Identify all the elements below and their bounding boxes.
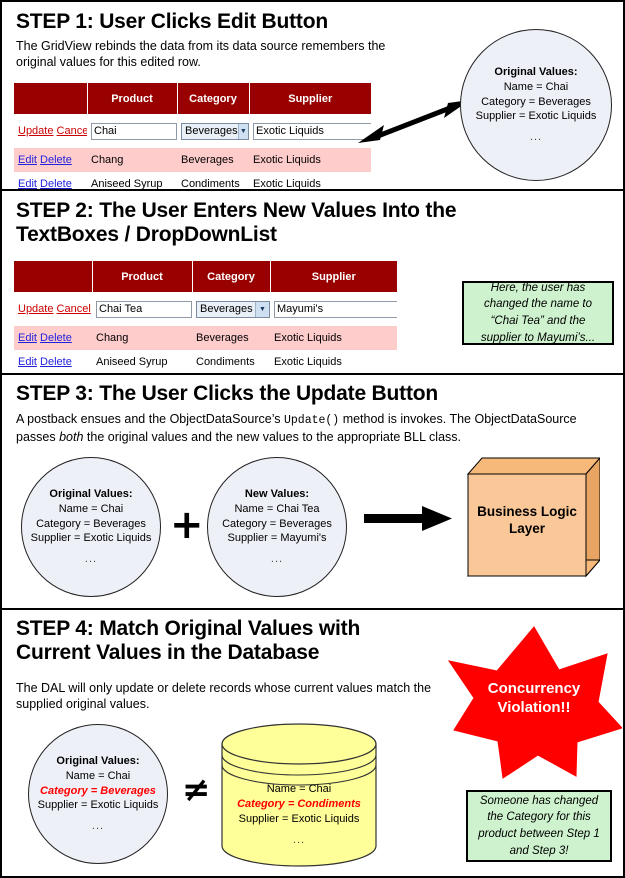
edit-row-commands: Update Cancel	[14, 292, 92, 326]
circle-line-category: Category = Beverages	[481, 96, 591, 108]
column-header-product: Product	[87, 83, 177, 114]
edit-link[interactable]: Edit	[18, 178, 37, 189]
db-line-supplier: Supplier = Exotic Liquids	[239, 813, 360, 825]
original-values-circle: Original Values: Name = Chai Category = …	[460, 29, 612, 181]
step-3-panel: STEP 3: The User Clicks the Update Butto…	[2, 373, 623, 608]
flow-arrow	[364, 505, 454, 533]
original-values-circle: Original Values: Name = Chai Category = …	[28, 724, 168, 864]
circle-line-supplier: Supplier = Mayumi's	[227, 532, 326, 544]
circle-line-category: Category = Beverages	[36, 518, 146, 530]
product-editor-cell: Chai Tea	[92, 292, 192, 326]
circle-line-name: Name = Chai	[66, 770, 131, 782]
category-editor-cell: Beverages ▼	[192, 292, 270, 326]
category-editor-cell: Beverages ▼	[177, 114, 249, 148]
chevron-down-icon: ▼	[238, 124, 248, 139]
circle-line-supplier: Supplier = Exotic Liquids	[31, 532, 152, 544]
edit-link[interactable]: Edit	[18, 356, 37, 368]
circle-line-category: Category = Beverages	[222, 518, 332, 530]
step-1-title: STEP 1: User Clicks Edit Button	[16, 10, 436, 34]
column-header-commands	[14, 83, 87, 114]
cell-product: Aniseed Syrup	[92, 350, 192, 373]
diagram-page: STEP 1: User Clicks Edit Button The Grid…	[0, 0, 625, 878]
cell-product: Aniseed Syrup	[87, 172, 177, 189]
cell-category: Beverages	[192, 326, 270, 350]
step-4-callout: Someone has changed the Category for thi…	[466, 790, 612, 862]
gridview-edit-row[interactable]: Update Cancel Chai Tea Beverages ▼	[14, 292, 397, 326]
circle-line-supplier: Supplier = Exotic Liquids	[476, 110, 597, 122]
circle-ellipsis: ...	[38, 819, 159, 834]
step-2-title: STEP 2: The User Enters New Values Into …	[16, 199, 486, 246]
row-commands: Edit Delete	[14, 172, 87, 189]
supplier-editor-cell: Exotic Liquids	[249, 114, 371, 148]
db-line-name: Name = Chai	[267, 783, 332, 795]
supplier-textbox[interactable]: Mayumi's	[274, 301, 397, 318]
table-row[interactable]: Edit Delete Chang Beverages Exotic Liqui…	[14, 326, 397, 350]
gridview-header-row: Product Category Supplier	[14, 261, 397, 292]
original-values-circle: Original Values: Name = Chai Category = …	[21, 457, 161, 597]
circle-heading: Original Values:	[56, 755, 139, 767]
step-4-title: STEP 4: Match Original Values with Curre…	[16, 617, 436, 664]
gridview-step-2[interactable]: Product Category Supplier Update Cancel …	[14, 261, 397, 373]
step-4-panel: STEP 4: Match Original Values with Curre…	[2, 608, 623, 876]
step-1-panel: STEP 1: User Clicks Edit Button The Grid…	[2, 2, 623, 189]
category-dropdown[interactable]: Beverages ▼	[181, 123, 249, 140]
circle-ellipsis: ...	[476, 130, 597, 145]
delete-link[interactable]: Delete	[40, 178, 72, 189]
delete-link[interactable]: Delete	[40, 332, 72, 344]
row-commands: Edit Delete	[14, 326, 92, 350]
db-line-category-highlighted: Category = Condiments	[237, 798, 361, 810]
step-3-title: STEP 3: The User Clicks the Update Butto…	[16, 382, 516, 406]
cell-product: Chang	[87, 148, 177, 172]
edit-row-commands: Update Cancel	[14, 114, 87, 148]
step-4-callout-text: Someone has changed the Category for thi…	[474, 793, 604, 860]
circle-line-supplier: Supplier = Exotic Liquids	[38, 799, 159, 811]
circle-line-name: Name = Chai	[504, 81, 569, 93]
product-textbox[interactable]: Chai Tea	[96, 301, 192, 318]
database-values: Name = Chai Category = Condiments Suppli…	[220, 782, 378, 847]
category-dropdown-value: Beverages	[185, 125, 238, 137]
edit-link[interactable]: Edit	[18, 332, 37, 344]
delete-link[interactable]: Delete	[40, 154, 72, 166]
cell-category: Condiments	[192, 350, 270, 373]
cell-product: Chang	[92, 326, 192, 350]
step-2-callout: Here, the user has changed the name to “…	[462, 281, 614, 345]
step-4-description: The DAL will only update or delete recor…	[16, 680, 446, 712]
column-header-product: Product	[92, 261, 192, 292]
category-dropdown-value: Beverages	[200, 303, 253, 315]
cancel-link[interactable]: Cancel	[57, 125, 87, 137]
step-3-description: A postback ensues and the ObjectDataSour…	[16, 411, 616, 445]
supplier-editor-cell: Mayumi's	[270, 292, 397, 326]
column-header-supplier: Supplier	[249, 83, 371, 114]
step-2-callout-text: Here, the user has changed the name to “…	[470, 280, 606, 347]
edit-link[interactable]: Edit	[18, 154, 37, 166]
cell-supplier: Exotic Liquids	[249, 172, 371, 189]
step-3-desc-part-c: the original values and the new values t…	[83, 430, 461, 444]
gridview-header-row: Product Category Supplier	[14, 83, 371, 114]
cancel-link[interactable]: Cancel	[57, 303, 91, 315]
update-link[interactable]: Update	[18, 303, 53, 315]
circle-heading: New Values:	[245, 488, 309, 500]
concurrency-violation-star: Concurrency Violation!!	[446, 624, 622, 779]
business-logic-layer-label: Business Logic Layer	[472, 504, 582, 538]
column-header-supplier: Supplier	[270, 261, 397, 292]
delete-link[interactable]: Delete	[40, 356, 72, 368]
category-dropdown[interactable]: Beverages ▼	[196, 301, 270, 318]
gridview-step-1[interactable]: Product Category Supplier Update Cancel …	[14, 83, 371, 189]
not-equal-symbol: ≠	[182, 773, 211, 807]
cell-supplier: Exotic Liquids	[270, 350, 397, 373]
table-row[interactable]: Edit Delete Aniseed Syrup Condiments Exo…	[14, 172, 371, 189]
circle-ellipsis: ...	[222, 552, 332, 567]
column-header-commands	[14, 261, 92, 292]
circle-line-name: Name = Chai	[59, 503, 124, 515]
db-ellipsis: ...	[220, 833, 378, 848]
circle-line-name: Name = Chai Tea	[234, 503, 319, 515]
circle-ellipsis: ...	[31, 552, 152, 567]
circle-line-category-highlighted: Category = Beverages	[40, 785, 156, 797]
product-textbox[interactable]: Chai	[91, 123, 177, 140]
cell-category: Condiments	[177, 172, 249, 189]
column-header-category: Category	[192, 261, 270, 292]
database-cylinder: Name = Chai Category = Condiments Suppli…	[220, 722, 378, 867]
cell-supplier: Exotic Liquids	[270, 326, 397, 350]
row-commands: Edit Delete	[14, 350, 92, 373]
product-editor-cell: Chai	[87, 114, 177, 148]
step-3-desc-part-a: A postback ensues and the ObjectDataSour…	[16, 412, 284, 426]
step-3-desc-emphasis: both	[59, 430, 83, 444]
row-commands: Edit Delete	[14, 148, 87, 172]
table-row[interactable]: Edit Delete Chang Beverages Exotic Liqui…	[14, 148, 371, 172]
supplier-textbox[interactable]: Exotic Liquids	[253, 123, 371, 140]
bidirectional-arrow	[358, 98, 470, 146]
update-link[interactable]: Update	[18, 125, 53, 137]
table-row[interactable]: Edit Delete Aniseed Syrup Condiments Exo…	[14, 350, 397, 373]
plus-symbol: +	[170, 505, 204, 545]
business-logic-layer-box: Business Logic Layer	[460, 452, 600, 580]
cell-category: Beverages	[177, 148, 249, 172]
update-method-code: Update()	[284, 414, 339, 427]
chevron-down-icon: ▼	[255, 302, 269, 317]
gridview-edit-row[interactable]: Update Cancel Chai Beverages ▼	[14, 114, 371, 148]
new-values-circle: New Values: Name = Chai Tea Category = B…	[207, 457, 347, 597]
circle-heading: Original Values:	[494, 66, 577, 78]
step-2-panel: STEP 2: The User Enters New Values Into …	[2, 189, 623, 373]
step-1-description: The GridView rebinds the data from its d…	[16, 38, 426, 70]
circle-heading: Original Values:	[49, 488, 132, 500]
cell-supplier: Exotic Liquids	[249, 148, 371, 172]
column-header-category: Category	[177, 83, 249, 114]
